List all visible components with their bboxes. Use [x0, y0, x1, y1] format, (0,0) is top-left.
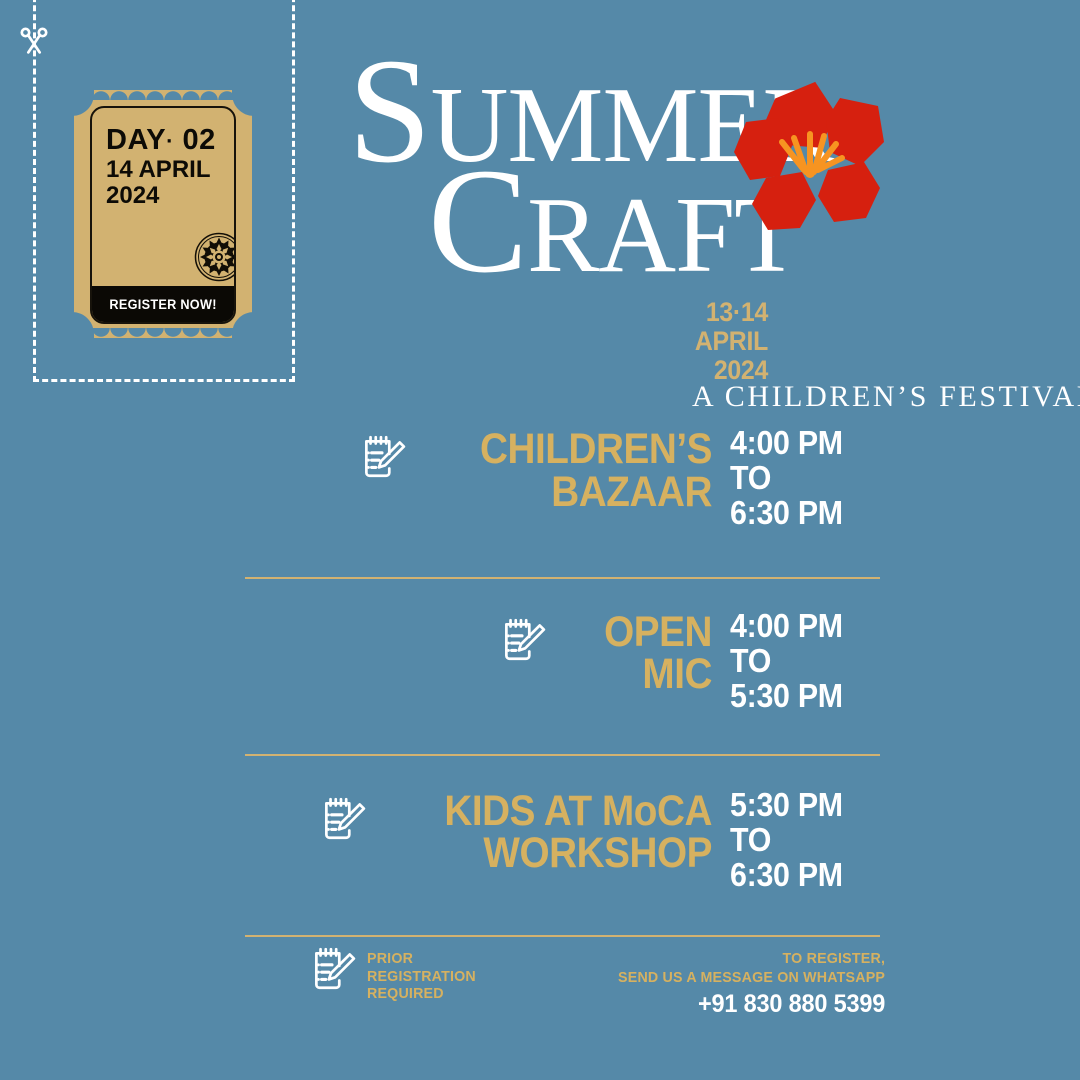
schedule-time-end: 6:30 PM [730, 858, 868, 893]
notepad-pencil-icon [345, 426, 407, 482]
schedule-title-line2: BAZAAR [438, 471, 713, 514]
gulmohar-flower-icon [720, 60, 900, 240]
schedule-time-start: 4:00 PM [730, 609, 868, 644]
notepad-pencil-icon [307, 940, 359, 999]
prior-registration-text: PRIOR REGISTRATION REQUIRED [359, 940, 482, 1003]
schedule-list: CHILDREN’S BAZAAR 4:00 PM TO 6:30 PM [245, 420, 880, 937]
ticket-day-label: DAY [106, 124, 166, 156]
schedule-time-to: TO [730, 461, 868, 496]
contact-block: TO REGISTER, SEND US A MESSAGE ON WHATSA… [604, 940, 885, 1019]
schedule-time: 4:00 PM TO 6:30 PM [730, 426, 880, 531]
footer: PRIOR REGISTRATION REQUIRED TO REGISTER,… [245, 940, 885, 1019]
footer-separator [245, 935, 880, 937]
schedule-title-line1: KIDS AT MoCA [402, 790, 713, 833]
notepad-pencil-icon [305, 788, 367, 844]
prior-registration-line3: REQUIRED [367, 985, 476, 1003]
ticket-day-line: DAY· 02 [106, 126, 224, 155]
ticket-year: 2024 [106, 183, 224, 209]
festival-logo: SUMMER CRAFT 13·14 APRIL 2024 A CHILDREN… [340, 70, 900, 370]
register-now-button[interactable]: REGISTER NOW! [92, 286, 234, 322]
prior-registration-note: PRIOR REGISTRATION REQUIRED [307, 940, 482, 1003]
whatsapp-phone-text: +91 830 880 5399 [621, 989, 885, 1019]
schedule-time-to: TO [730, 644, 868, 679]
schedule-time: 4:00 PM TO 5:30 PM [730, 609, 880, 714]
whatsapp-phone-number[interactable]: +91 830 880 5399 [604, 989, 885, 1019]
schedule-title-line1: CHILDREN’S [438, 428, 713, 471]
ticket-scallop-top [74, 86, 252, 100]
schedule-time-to: TO [730, 823, 868, 858]
schedule-title: KIDS AT MoCA WORKSHOP [367, 788, 730, 875]
schedule-separator [245, 577, 880, 579]
schedule-row-open-mic[interactable]: OPEN MIC 4:00 PM TO 5:30 PM [245, 609, 880, 714]
wordmark: SUMMER CRAFT [340, 70, 760, 300]
schedule-separator [245, 754, 880, 756]
ticket-inner-frame: DAY· 02 14 APRIL 2024 [90, 106, 236, 324]
prior-registration-line1: PRIOR [367, 950, 476, 968]
poster-canvas: DAY· 02 14 APRIL 2024 [0, 0, 1080, 1080]
ticket-date: 14 APRIL [106, 157, 224, 183]
mandala-icon [194, 232, 236, 282]
festival-dates: 13·14 APRIL 2024 [680, 298, 768, 385]
schedule-time-start: 5:30 PM [730, 788, 868, 823]
register-now-label: REGISTER NOW! [109, 297, 216, 312]
schedule-row-kids-at-moca-workshop[interactable]: KIDS AT MoCA WORKSHOP 5:30 PM TO 6:30 PM [245, 788, 880, 893]
ticket-text-block: DAY· 02 14 APRIL 2024 [106, 126, 224, 209]
wordmark-craft-cap: C [428, 138, 527, 304]
schedule-time-end: 6:30 PM [730, 496, 868, 531]
scissors-icon [17, 24, 51, 58]
ticket-day-number: 02 [182, 124, 215, 156]
notepad-pencil-icon [485, 609, 547, 665]
prior-registration-line2: REGISTRATION [367, 968, 476, 986]
festival-dates-line2: APRIL [687, 327, 768, 356]
schedule-time-start: 4:00 PM [730, 426, 868, 461]
schedule-title-line2: MIC [564, 653, 713, 696]
day-ticket[interactable]: DAY· 02 14 APRIL 2024 [74, 78, 252, 350]
schedule-title: OPEN MIC [547, 609, 730, 696]
festival-dates-line1: 13·14 [687, 298, 768, 327]
ticket-day-separator: · [166, 128, 174, 153]
schedule-time-end: 5:30 PM [730, 679, 868, 714]
wordmark-summer-cap: S [348, 28, 430, 194]
schedule-title-line1: OPEN [564, 611, 713, 654]
schedule-title: CHILDREN’S BAZAAR [407, 426, 730, 513]
festival-subtitle: A CHILDREN’S FESTIVAL [692, 380, 1080, 414]
schedule-title-line2: WORKSHOP [402, 832, 713, 875]
contact-line1-text: TO REGISTER, [618, 950, 885, 969]
schedule-time: 5:30 PM TO 6:30 PM [730, 788, 880, 893]
contact-line1: TO REGISTER, [604, 950, 885, 969]
contact-line2-text: SEND US A MESSAGE ON WHATSAPP [618, 969, 885, 988]
schedule-row-childrens-bazaar[interactable]: CHILDREN’S BAZAAR 4:00 PM TO 6:30 PM [245, 426, 880, 531]
ticket-scallop-bottom [74, 328, 252, 342]
contact-line2: SEND US A MESSAGE ON WHATSAPP [604, 969, 885, 988]
